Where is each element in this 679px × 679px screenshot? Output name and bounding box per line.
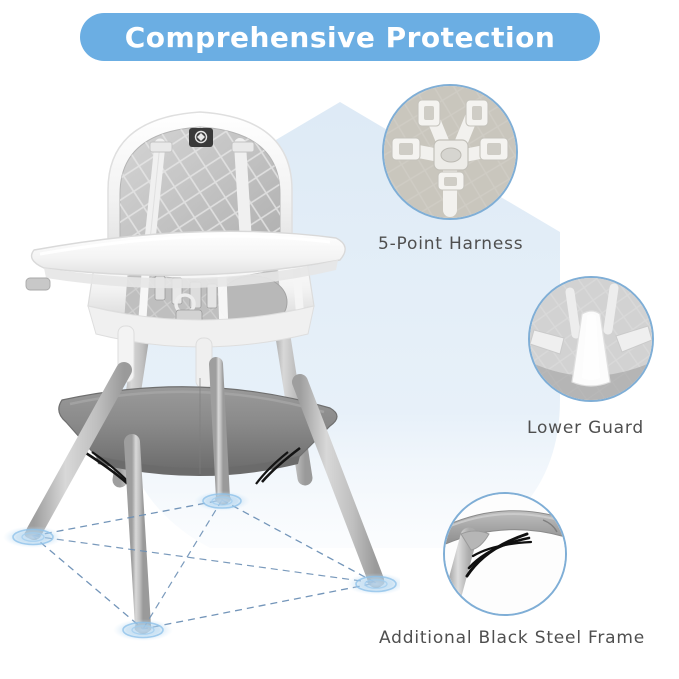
callout-harness-caption: 5-Point Harness <box>378 234 523 254</box>
page-title: Comprehensive Protection <box>125 21 556 54</box>
brand-badge-icon <box>189 128 213 147</box>
infographic-canvas: Comprehensive Protection <box>0 0 679 679</box>
callout-harness-circle <box>382 84 518 220</box>
black-steel-frame-detail-icon <box>445 494 565 614</box>
lower-guard-detail-icon <box>530 278 652 400</box>
header-banner: Comprehensive Protection <box>80 13 600 61</box>
foot-glow-right <box>346 573 400 595</box>
callout-lower-guard-circle <box>528 276 654 402</box>
callout-steel-frame-caption: Additional Black Steel Frame <box>379 628 645 648</box>
tray-release-lever <box>26 278 50 290</box>
product-illustration-high-chair <box>0 70 400 670</box>
foot-glow-front <box>113 619 173 641</box>
callout-steel-frame-circle <box>443 492 567 616</box>
foot-glow-top <box>194 491 250 511</box>
foot-glow-left <box>3 526 63 548</box>
five-point-harness-detail-icon <box>384 86 516 218</box>
foot-contact-glows <box>3 491 400 641</box>
callout-lower-guard-caption: Lower Guard <box>527 418 644 438</box>
stability-diagram <box>33 500 376 629</box>
